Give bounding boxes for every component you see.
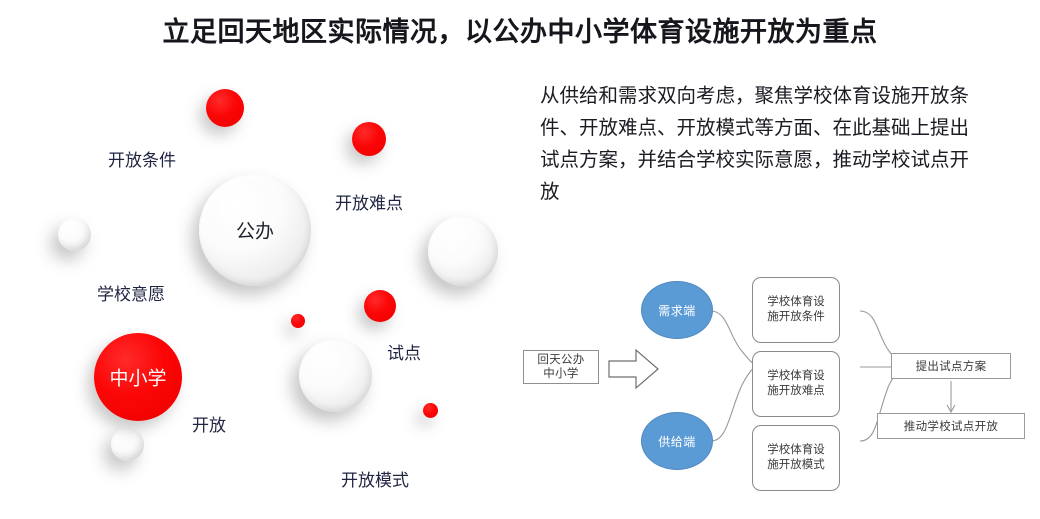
flow-node-aspect-difficulties: 学校体育设 施开放难点 — [752, 351, 840, 417]
bubble-zhongxiaoxue-label: 中小学 — [94, 364, 182, 391]
flow-node-source: 回天公办 中小学 — [523, 350, 599, 384]
flow-node-outcome-proposal-label: 提出试点方案 — [916, 358, 987, 374]
cloud-label-school-willingness: 学校意愿 — [97, 280, 165, 305]
bubble-red-small — [352, 122, 386, 156]
bubble-gongban-label: 公办 — [199, 217, 311, 244]
bubble-gongban: 公办 — [199, 174, 311, 286]
bubble-white-small — [111, 428, 144, 461]
cloud-label-open-difficulties: 开放难点 — [335, 189, 403, 214]
cloud-label-pilot: 试点 — [387, 339, 421, 364]
block-arrow-right-icon — [609, 350, 658, 388]
flow-diagram: 回天公办 中小学 需求端 供给端 学校体育设 施开放条件 学校体育设 施开放难点… — [505, 255, 1040, 515]
flow-node-supply-side-label: 供给端 — [658, 433, 696, 450]
flow-node-aspect-difficulties-line2: 施开放难点 — [767, 384, 825, 399]
cloud-label-open-mode: 开放模式 — [341, 466, 409, 491]
flow-node-demand-side: 需求端 — [641, 281, 713, 339]
bubble-red-dot — [291, 314, 305, 328]
flow-node-outcome-proposal: 提出试点方案 — [891, 353, 1011, 379]
flow-node-aspect-mode-line1: 学校体育设 — [767, 443, 825, 458]
bubble-white-medium — [428, 216, 498, 286]
bubble-zhongxiaoxue: 中小学 — [94, 333, 182, 421]
flow-node-aspect-conditions-line1: 学校体育设 — [767, 295, 825, 310]
flow-node-supply-side: 供给端 — [641, 412, 713, 470]
cloud-label-open-conditions: 开放条件 — [108, 146, 176, 171]
cloud-label-open: 开放 — [192, 411, 226, 436]
slide-canvas: 立足回天地区实际情况，以公办中小学体育设施开放为重点 公办 中小学 开放条件 开… — [0, 0, 1040, 519]
page-title: 立足回天地区实际情况，以公办中小学体育设施开放为重点 — [0, 10, 1040, 49]
flow-node-demand-side-label: 需求端 — [658, 302, 696, 319]
flow-node-aspect-conditions: 学校体育设 施开放条件 — [752, 277, 840, 343]
flow-node-outcome-promote-label: 推动学校试点开放 — [904, 418, 998, 434]
bubble-red-dot — [423, 403, 438, 418]
bubble-red-small — [364, 290, 396, 322]
flow-node-aspect-difficulties-line1: 学校体育设 — [767, 369, 825, 384]
flow-node-aspect-mode-line2: 施开放模式 — [767, 458, 825, 473]
bubble-white-medium — [299, 339, 372, 412]
flow-node-aspect-mode: 学校体育设 施开放模式 — [752, 425, 840, 491]
flow-node-outcome-promote: 推动学校试点开放 — [877, 413, 1025, 439]
bubble-white-small — [58, 218, 91, 251]
flow-node-aspect-conditions-line2: 施开放条件 — [767, 310, 825, 325]
description-paragraph: 从供给和需求双向考虑，聚焦学校体育设施开放条件、开放难点、开放模式等方面、在此基… — [540, 80, 970, 208]
flow-node-source-line2: 中小学 — [543, 367, 578, 381]
bubble-cloud: 公办 中小学 开放条件 开放难点 学校意愿 试点 开放 开放模式 — [0, 58, 520, 519]
flow-node-source-line1: 回天公办 — [537, 353, 584, 367]
bubble-red-small — [206, 89, 244, 127]
